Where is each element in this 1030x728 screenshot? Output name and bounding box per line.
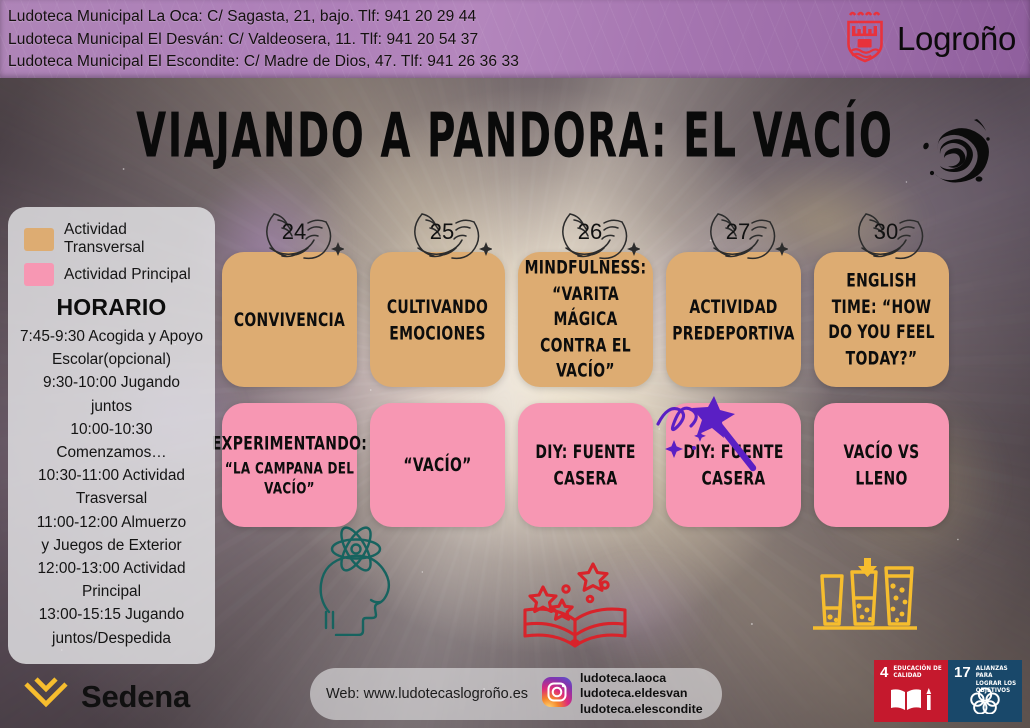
legend-label: Actividad Transversal bbox=[64, 221, 205, 257]
schedule-line: juntos/Despedida bbox=[18, 627, 205, 650]
legend-swatch-pink bbox=[24, 263, 54, 286]
schedule-line: y Juegos de Exterior bbox=[18, 534, 205, 557]
contact-panel: Web: www.ludotecaslogroño.es bbox=[310, 668, 722, 720]
schedule-line: 11:00-12:00 Almuerzo bbox=[18, 511, 205, 534]
card-text: ENGLISH TIME: “HOW DO YOU FEEL TODAY?” bbox=[823, 268, 940, 372]
card-text: VACÍO VS LLENO bbox=[823, 439, 940, 491]
address-line: Ludoteca Municipal La Oca: C/ Sagasta, 2… bbox=[8, 6, 519, 29]
sedena-heart-icon bbox=[22, 676, 70, 717]
card-title: DIY: FUENTE CASERA bbox=[683, 441, 783, 489]
website-text[interactable]: Web: www.ludotecaslogroño.es bbox=[326, 686, 528, 702]
activity-card-24[interactable]: 24 CONVIVENCIA bbox=[222, 252, 357, 387]
card-text: DIY: FUENTE CASERA bbox=[675, 439, 792, 491]
logrono-shield-icon bbox=[844, 8, 886, 69]
book-pencil-icon bbox=[889, 686, 933, 719]
logrono-brand: Logroño bbox=[844, 8, 1016, 69]
card-title: MINDFULNESS: “VARITA MÁGICA CONTRA EL VA… bbox=[525, 257, 647, 382]
activity-card-25[interactable]: 25 CULTIVANDO EMOCIONES bbox=[370, 252, 505, 387]
card-title: “VACÍO” bbox=[403, 454, 471, 476]
transversal-row: 24 CONVIVENCIA bbox=[222, 252, 1022, 387]
legend-item-principal: Actividad Principal bbox=[24, 263, 205, 286]
schedule-line: 12:00-13:00 Actividad bbox=[18, 557, 205, 580]
principal-card-1[interactable]: EXPERIMENTANDO: “LA CAMPANA DEL VACÍO” bbox=[222, 403, 357, 527]
schedule-line: Principal bbox=[18, 580, 205, 603]
instagram-handle-list: ludoteca.laoca ludoteca.eldesvan ludotec… bbox=[580, 671, 703, 717]
address-list: Ludoteca Municipal La Oca: C/ Sagasta, 2… bbox=[8, 6, 519, 74]
instagram-handle[interactable]: ludoteca.eldesvan bbox=[580, 686, 703, 701]
schedule-line: Escolar(opcional) bbox=[18, 348, 205, 371]
legend-item-transversal: Actividad Transversal bbox=[24, 221, 205, 257]
principal-card-5[interactable]: VACÍO VS LLENO bbox=[814, 403, 949, 527]
schedule-line: 7:45-9:30 Acogida y Apoyo bbox=[18, 325, 205, 348]
card-title: CULTIVANDO EMOCIONES bbox=[387, 296, 488, 344]
sedena-wordmark: Sedena bbox=[81, 679, 190, 715]
activity-card-30[interactable]: 30 ENGLISH TIME: “HOW DO YOU FEEL TODAY?… bbox=[814, 252, 949, 387]
header-band: Ludoteca Municipal La Oca: C/ Sagasta, 2… bbox=[0, 0, 1030, 78]
sdg-label: EDUCACIÓN DE CALIDAD bbox=[893, 665, 943, 680]
schedule-line: 9:30-10:00 Jugando bbox=[18, 371, 205, 394]
schedule-line: juntos bbox=[18, 395, 205, 418]
schedule-line: 10:00-10:30 bbox=[18, 418, 205, 441]
interlocking-circles-icon bbox=[968, 686, 1002, 719]
principal-card-3[interactable]: DIY: FUENTE CASERA bbox=[518, 403, 653, 527]
sedena-logo: Sedena bbox=[22, 676, 190, 717]
instagram-handle[interactable]: ludoteca.laoca bbox=[580, 671, 703, 686]
principal-card-2[interactable]: “VACÍO” bbox=[370, 403, 505, 527]
poster-canvas: Ludoteca Municipal La Oca: C/ Sagasta, 2… bbox=[0, 0, 1030, 728]
principal-row: EXPERIMENTANDO: “LA CAMPANA DEL VACÍO” “… bbox=[222, 403, 1022, 527]
instagram-icon[interactable] bbox=[542, 677, 572, 712]
sdg-header: 4 EDUCACIÓN DE CALIDAD bbox=[874, 660, 948, 680]
principal-card-4[interactable]: DIY: FUENTE CASERA bbox=[666, 403, 801, 527]
sdg-number: 17 bbox=[954, 665, 971, 680]
instagram-handle[interactable]: ludoteca.elescondite bbox=[580, 702, 703, 717]
schedule-line: Trasversal bbox=[18, 487, 205, 510]
activity-card-26[interactable]: 26 MINDFULNESS: “VARITA MÁGICA CONTRA EL… bbox=[518, 252, 653, 387]
card-title: EXPERIMENTANDO: bbox=[212, 432, 367, 454]
address-line: Ludoteca Municipal El Escondite: C/ Madr… bbox=[8, 51, 519, 74]
card-text: DIY: FUENTE CASERA bbox=[527, 439, 644, 491]
activity-card-27[interactable]: 27 ACTIVIDAD PREDEPORTIVA bbox=[666, 252, 801, 387]
schedule-heading: HORARIO bbox=[18, 294, 205, 321]
card-text: MINDFULNESS: “VARITA MÁGICA CONTRA EL VA… bbox=[525, 255, 647, 385]
logrono-wordmark: Logroño bbox=[897, 20, 1016, 58]
card-title: DIY: FUENTE CASERA bbox=[535, 441, 635, 489]
instagram-block: ludoteca.laoca ludoteca.eldesvan ludotec… bbox=[542, 671, 703, 717]
card-text: CULTIVANDO EMOCIONES bbox=[379, 294, 496, 346]
activity-grid: 24 CONVIVENCIA bbox=[222, 252, 1022, 527]
card-title: CONVIVENCIA bbox=[234, 309, 345, 331]
card-title: ENGLISH TIME: “HOW DO YOU FEEL TODAY?” bbox=[828, 270, 935, 369]
schedule-sidebar: Actividad Transversal Actividad Principa… bbox=[8, 207, 215, 664]
schedule-line: 10:30-11:00 Actividad bbox=[18, 464, 205, 487]
page-title: VIAJANDO A PANDORA: EL VACÍO bbox=[136, 99, 893, 171]
sdg-badge-17: 17 ALIANZAS PARA LOGRAR LOS OBJETIVOS bbox=[948, 660, 1022, 722]
address-line: Ludoteca Municipal El Desván: C/ Valdeos… bbox=[8, 29, 519, 52]
schedule-line: Comenzamos… bbox=[18, 441, 205, 464]
sdg-number: 4 bbox=[880, 665, 888, 680]
card-subtitle: “LA CAMPANA DEL VACÍO” bbox=[212, 458, 367, 500]
card-text: ACTIVIDAD PREDEPORTIVA bbox=[672, 294, 795, 346]
card-text: “VACÍO” bbox=[403, 452, 471, 478]
sdg-badge-4: 4 EDUCACIÓN DE CALIDAD bbox=[874, 660, 948, 722]
poster-title-row: VIAJANDO A PANDORA: EL VACÍO bbox=[0, 108, 1030, 162]
legend-label: Actividad Principal bbox=[64, 266, 191, 284]
schedule-list: 7:45-9:30 Acogida y Apoyo Escolar(opcion… bbox=[18, 325, 205, 650]
schedule-line: 13:00-15:15 Jugando bbox=[18, 603, 205, 626]
card-title: ACTIVIDAD PREDEPORTIVA bbox=[672, 296, 795, 344]
legend-swatch-orange bbox=[24, 228, 54, 251]
card-title: VACÍO VS LLENO bbox=[844, 441, 920, 489]
sdg-badges: 4 EDUCACIÓN DE CALIDAD 17 ALIANZAS PARA … bbox=[874, 660, 1022, 722]
card-text: CONVIVENCIA bbox=[234, 307, 345, 333]
card-text: EXPERIMENTANDO: “LA CAMPANA DEL VACÍO” bbox=[212, 430, 367, 501]
